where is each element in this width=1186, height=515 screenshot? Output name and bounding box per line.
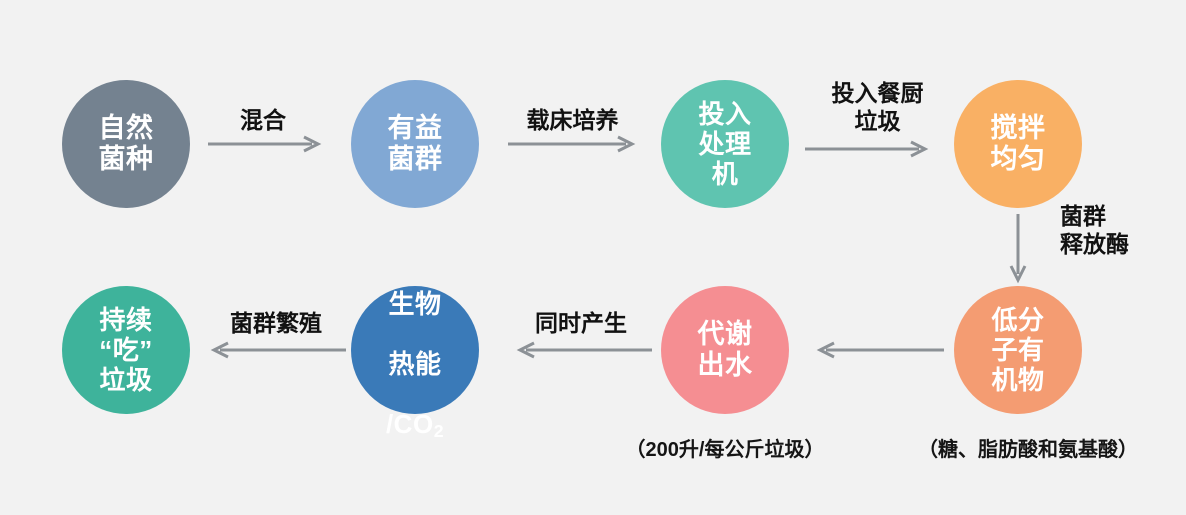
caption-metabolic-water: （200升/每公斤垃圾） bbox=[595, 433, 855, 462]
node-beneficial-flora[interactable]: 有益 菌群 bbox=[351, 80, 479, 208]
node-continuous-eating-label: 持续 “吃” 垃圾 bbox=[99, 305, 153, 395]
node-stir-evenly-label: 搅拌 均匀 bbox=[991, 113, 1046, 176]
node-metabolic-water-label: 代谢 出水 bbox=[698, 319, 753, 382]
node-beneficial-flora-label: 有益 菌群 bbox=[388, 113, 443, 176]
bio-heat-subscript: 2 bbox=[434, 421, 444, 441]
node-continuous-eating[interactable]: 持续 “吃” 垃圾 bbox=[62, 286, 190, 414]
arrow-label-bed-culture: 载床培养 bbox=[495, 107, 650, 135]
node-natural-strain[interactable]: 自然 菌种 bbox=[62, 80, 190, 208]
arrow-enzyme-down bbox=[1006, 214, 1030, 286]
node-low-molecular[interactable]: 低分 子有 机物 bbox=[954, 286, 1082, 414]
node-bio-heat-co2[interactable]: 生物 热能 /CO2 bbox=[351, 286, 479, 414]
bio-heat-line1: 生物 bbox=[388, 289, 441, 319]
arrow-label-flora-multiply: 菌群繁殖 bbox=[206, 310, 346, 338]
arrow-label-simultaneous: 同时产生 bbox=[512, 310, 650, 338]
arrow-label-mix: 混合 bbox=[208, 107, 318, 135]
bio-heat-line3: /CO bbox=[386, 409, 434, 439]
node-feed-processor[interactable]: 投入 处理 机 bbox=[661, 80, 789, 208]
arrow-flora-multiply-left bbox=[206, 338, 346, 362]
arrow-label-enzyme: 菌群 释放酶 bbox=[1060, 203, 1180, 258]
arrow-feed-waste-right bbox=[805, 137, 933, 161]
node-bio-heat-co2-label: 生物 热能 /CO2 bbox=[386, 258, 444, 441]
node-metabolic-water[interactable]: 代谢 出水 bbox=[661, 286, 789, 414]
node-natural-strain-label: 自然 菌种 bbox=[99, 113, 154, 176]
flowchart-canvas: 自然 菌种 混合 有益 菌群 载床培养 投入 处理 机 投入餐厨 垃圾 搅拌 均… bbox=[0, 0, 1186, 515]
arrow-label-feed-waste: 投入餐厨 垃圾 bbox=[805, 80, 950, 135]
arrow-bed-culture-right bbox=[508, 132, 640, 156]
node-feed-processor-label: 投入 处理 机 bbox=[698, 99, 751, 189]
arrow-simultaneous-left bbox=[512, 338, 652, 362]
arrow-low-molecular-to-metabolic-left bbox=[812, 338, 944, 362]
bio-heat-line2: 热能 bbox=[388, 349, 441, 379]
node-stir-evenly[interactable]: 搅拌 均匀 bbox=[954, 80, 1082, 208]
node-low-molecular-label: 低分 子有 机物 bbox=[991, 305, 1044, 395]
caption-low-molecular: （糖、脂肪酸和氨基酸） bbox=[888, 433, 1168, 462]
arrow-mix-right bbox=[208, 132, 326, 156]
